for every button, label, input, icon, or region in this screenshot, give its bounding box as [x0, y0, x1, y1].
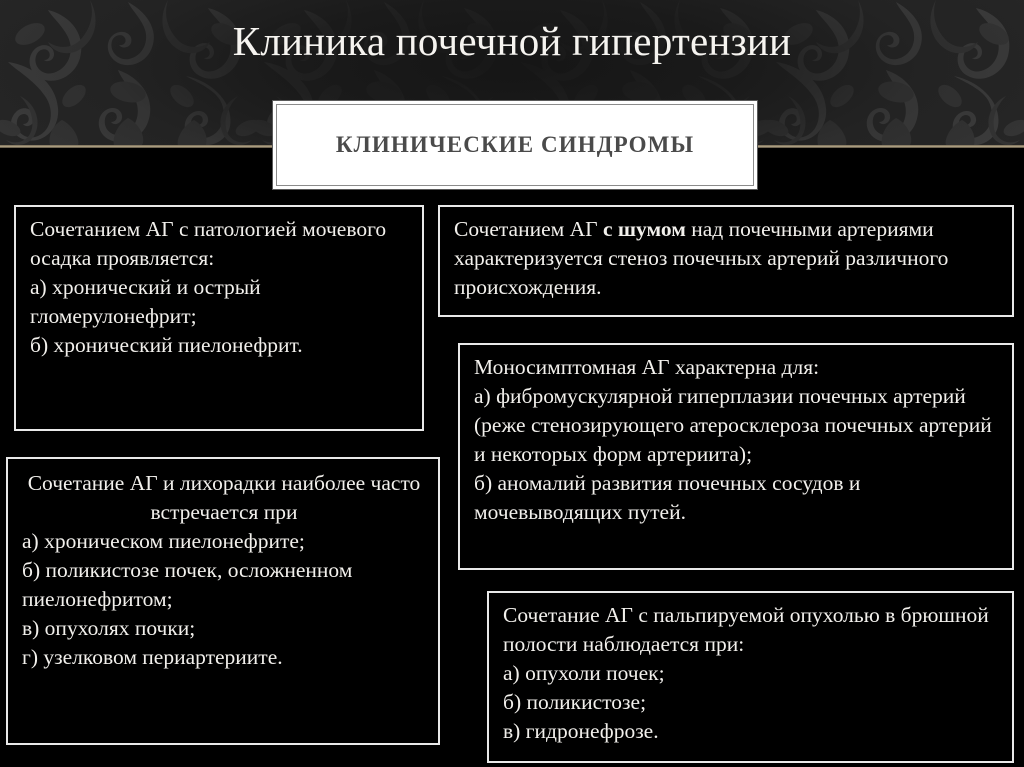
box-fever: Сочетание АГ и лихорадки наиболее часто …: [6, 457, 440, 745]
urine-items-text: а) хронический и острый гломерулонефрит;…: [30, 273, 410, 360]
fever-lead-text: Сочетание АГ и лихорадки наиболее часто …: [22, 469, 426, 527]
page-title: Клиника почечной гипертензии: [0, 17, 1024, 65]
box-monosymptomatic-hypertension: Моносимптомная АГ характерна для: а) фиб…: [458, 343, 1014, 570]
fever-items-text: а) хроническом пиелонефрите; б) поликист…: [22, 527, 426, 672]
murmur-text-before: Сочетанием АГ: [454, 217, 603, 241]
clinical-syndromes-label: КЛИНИЧЕСКИЕ СИНДРОМЫ: [336, 132, 694, 158]
box-renal-artery-murmur: Сочетанием АГ с шумом над почечными арте…: [438, 205, 1014, 317]
clinical-syndromes-plate: КЛИНИЧЕСКИЕ СИНДРОМЫ: [276, 104, 754, 186]
tumour-items-text: а) опухоли почек; б) поликистозе; в) гид…: [503, 659, 1000, 746]
slide-root: Клиника почечной гипертензии КЛИНИЧЕСКИЕ…: [0, 0, 1024, 767]
murmur-text-bold: с шумом: [603, 217, 686, 241]
mono-items-text: а) фибромускулярной гиперплазии почечных…: [474, 382, 1000, 527]
mono-lead-text: Моносимптомная АГ характерна для:: [474, 353, 1000, 382]
murmur-text: Сочетанием АГ с шумом над почечными арте…: [454, 215, 1000, 302]
box-urine-sediment: Сочетанием АГ с патологией мочевого осад…: [14, 205, 424, 431]
urine-lead-text: Сочетанием АГ с патологией мочевого осад…: [30, 215, 410, 273]
tumour-lead-text: Сочетание АГ с пальпируемой опухолью в б…: [503, 601, 1000, 659]
box-palpable-tumour: Сочетание АГ с пальпируемой опухолью в б…: [487, 591, 1014, 763]
